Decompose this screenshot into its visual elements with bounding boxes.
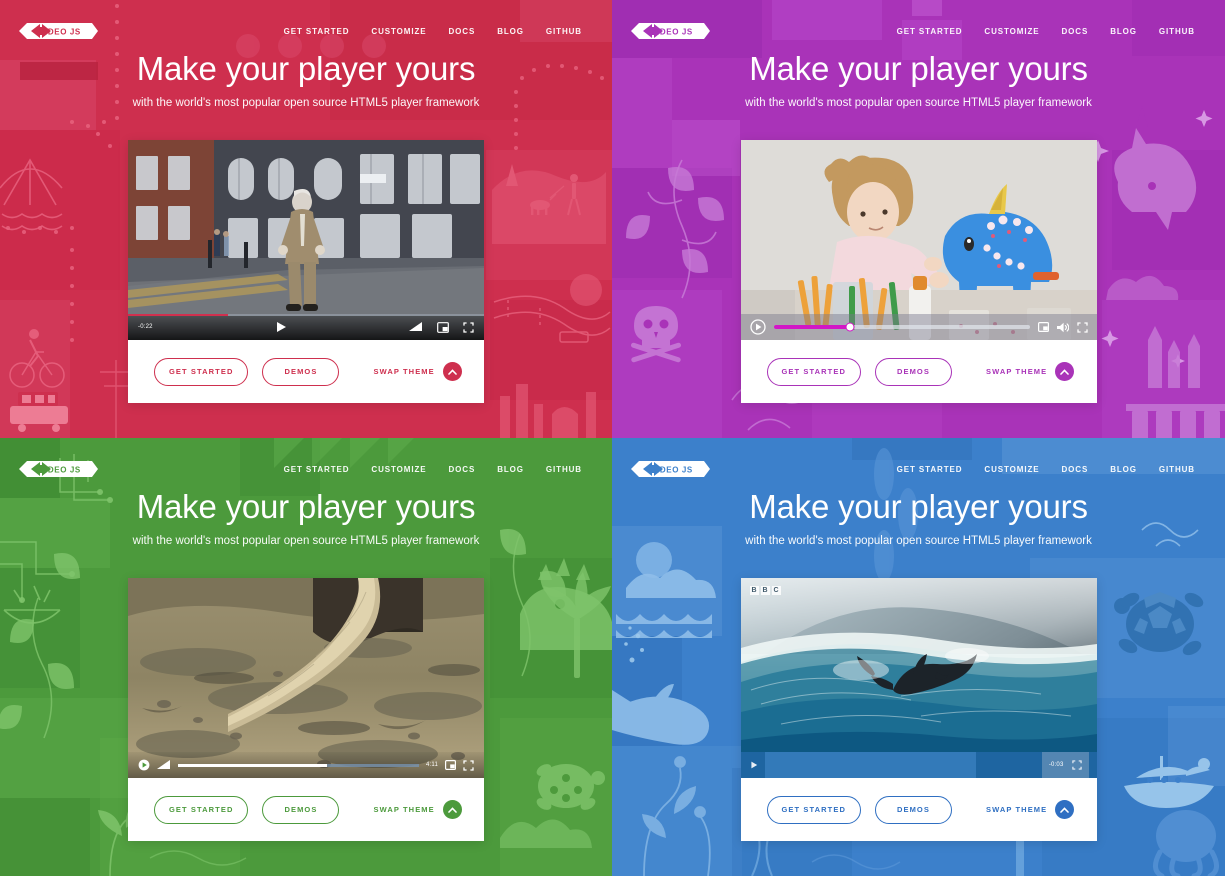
bbc-watermark: B B C xyxy=(750,586,781,595)
action-bar: GET STARTED DEMOS SWAP THEME xyxy=(741,778,1097,841)
progress-track[interactable] xyxy=(765,752,1036,778)
videojs-chevron-logo-icon: VIDEO JS xyxy=(628,20,712,42)
nav-item-blog[interactable]: BLOG xyxy=(497,465,524,474)
nav-item-customize[interactable]: CUSTOMIZE xyxy=(984,27,1039,36)
videojs-logo[interactable]: VIDEO JS xyxy=(628,458,712,480)
video-area[interactable]: -0:22 xyxy=(128,140,484,340)
time-display: -0:03 xyxy=(1049,762,1064,768)
video-area[interactable]: B B C -0:03 xyxy=(741,578,1097,778)
videojs-chevron-logo-icon: VIDEO JS xyxy=(628,458,712,480)
nav-item-docs[interactable]: DOCS xyxy=(1061,27,1088,36)
video-area[interactable] xyxy=(741,140,1097,340)
nav-item-docs[interactable]: DOCS xyxy=(448,465,475,474)
nav-item-github[interactable]: GITHUB xyxy=(1159,465,1195,474)
player-controls-right: -0:03 xyxy=(1042,752,1089,778)
main-nav: GET STARTED CUSTOMIZE DOCS BLOG GITHUB xyxy=(284,465,596,474)
progress-fill xyxy=(774,325,851,329)
player-card: B B C -0:03 xyxy=(741,578,1097,841)
fullscreen-icon[interactable] xyxy=(463,760,474,771)
play-circle-icon[interactable] xyxy=(750,319,766,335)
volume-icon[interactable] xyxy=(409,322,423,332)
progress-track[interactable] xyxy=(128,314,484,316)
volume-icon[interactable] xyxy=(1057,322,1069,333)
swap-theme-label: SWAP THEME xyxy=(373,367,434,376)
nav-item-docs[interactable]: DOCS xyxy=(1061,465,1088,474)
chevron-up-icon xyxy=(448,807,457,813)
site-header: VIDEO JS GET STARTED CUSTOMIZE DOCS BLOG… xyxy=(0,0,612,62)
nav-item-get-started[interactable]: GET STARTED xyxy=(897,465,963,474)
progress-fill xyxy=(765,752,977,778)
demos-button[interactable]: DEMOS xyxy=(262,358,339,386)
swap-theme-control[interactable]: SWAP THEME xyxy=(373,800,461,819)
nav-item-github[interactable]: GITHUB xyxy=(1159,27,1195,36)
nav-item-customize[interactable]: CUSTOMIZE xyxy=(371,27,426,36)
svg-text:VIDEO JS: VIDEO JS xyxy=(39,466,81,475)
swap-theme-control[interactable]: SWAP THEME xyxy=(373,362,461,381)
nav-item-blog[interactable]: BLOG xyxy=(1110,465,1137,474)
video-poster xyxy=(128,140,484,340)
get-started-button[interactable]: GET STARTED xyxy=(767,358,861,386)
panel-theme-blue: VIDEO JS GET STARTED CUSTOMIZE DOCS BLOG… xyxy=(612,438,1225,876)
nav-item-customize[interactable]: CUSTOMIZE xyxy=(984,465,1039,474)
nav-item-get-started[interactable]: GET STARTED xyxy=(284,465,350,474)
swap-theme-button[interactable] xyxy=(1055,362,1074,381)
player-card: 4:11 GET STARTED DEMOS SWAP THEME xyxy=(128,578,484,841)
get-started-button[interactable]: GET STARTED xyxy=(767,796,861,824)
nav-item-get-started[interactable]: GET STARTED xyxy=(897,27,963,36)
play-circle-icon[interactable] xyxy=(138,759,150,771)
nav-item-docs[interactable]: DOCS xyxy=(448,27,475,36)
chevron-up-icon xyxy=(448,369,457,375)
picture-in-picture-icon[interactable] xyxy=(445,760,456,770)
action-bar: GET STARTED DEMOS SWAP THEME xyxy=(128,340,484,403)
progress-handle[interactable] xyxy=(846,323,855,332)
fullscreen-icon[interactable] xyxy=(1077,322,1088,333)
player-card: GET STARTED DEMOS SWAP THEME xyxy=(741,140,1097,403)
site-header: VIDEO JS GET STARTED CUSTOMIZE DOCS BLOG… xyxy=(612,438,1225,500)
bbc-letter-1: B xyxy=(750,586,759,595)
video-poster xyxy=(128,578,484,778)
videojs-chevron-logo-icon: VIDEO JS xyxy=(16,458,100,480)
swap-theme-label: SWAP THEME xyxy=(986,805,1047,814)
chevron-up-icon xyxy=(1060,369,1069,375)
theme-grid: VIDEO JS GET STARTED CUSTOMIZE DOCS BLOG… xyxy=(0,0,1225,876)
player-controls[interactable]: 4:11 xyxy=(128,752,484,778)
main-nav: GET STARTED CUSTOMIZE DOCS BLOG GITHUB xyxy=(897,27,1209,36)
volume-icon[interactable] xyxy=(157,760,171,770)
videojs-chevron-logo-icon: VIDEO JS xyxy=(16,20,100,42)
player-controls[interactable]: -0:22 xyxy=(128,314,484,340)
time-display: -0:22 xyxy=(138,324,153,330)
svg-text:VIDEO JS: VIDEO JS xyxy=(651,28,693,37)
get-started-button[interactable]: GET STARTED xyxy=(154,796,248,824)
demos-button[interactable]: DEMOS xyxy=(875,358,952,386)
nav-item-blog[interactable]: BLOG xyxy=(1110,27,1137,36)
swap-theme-button[interactable] xyxy=(1055,800,1074,819)
chevron-up-icon xyxy=(1060,807,1069,813)
main-nav: GET STARTED CUSTOMIZE DOCS BLOG GITHUB xyxy=(284,27,596,36)
fullscreen-icon[interactable] xyxy=(463,322,474,333)
swap-theme-label: SWAP THEME xyxy=(373,805,434,814)
videojs-logo[interactable]: VIDEO JS xyxy=(16,458,100,480)
nav-item-github[interactable]: GITHUB xyxy=(546,465,582,474)
demos-button[interactable]: DEMOS xyxy=(875,796,952,824)
play-icon[interactable] xyxy=(275,321,287,333)
nav-item-get-started[interactable]: GET STARTED xyxy=(284,27,350,36)
progress-track[interactable] xyxy=(774,325,1030,329)
play-icon[interactable] xyxy=(749,760,759,770)
swap-theme-button[interactable] xyxy=(443,362,462,381)
time-display: 4:11 xyxy=(426,762,438,768)
progress-fill xyxy=(128,314,228,316)
video-poster xyxy=(741,140,1097,340)
player-card: -0:22 xyxy=(128,140,484,403)
action-bar: GET STARTED DEMOS SWAP THEME xyxy=(741,340,1097,403)
picture-in-picture-icon[interactable] xyxy=(1038,322,1049,332)
get-started-button[interactable]: GET STARTED xyxy=(154,358,248,386)
bbc-letter-3: C xyxy=(772,586,781,595)
player-controls[interactable] xyxy=(741,314,1097,340)
video-area[interactable]: 4:11 xyxy=(128,578,484,778)
svg-text:VIDEO JS: VIDEO JS xyxy=(651,466,693,475)
page-subtitle: with the world's most popular open sourc… xyxy=(0,97,612,109)
progress-track[interactable] xyxy=(178,764,419,767)
panel-theme-green: VIDEO JS GET STARTED CUSTOMIZE DOCS BLOG… xyxy=(0,438,612,876)
nav-item-customize[interactable]: CUSTOMIZE xyxy=(371,465,426,474)
site-header: VIDEO JS GET STARTED CUSTOMIZE DOCS BLOG… xyxy=(612,0,1225,62)
swap-theme-button[interactable] xyxy=(443,800,462,819)
picture-in-picture-icon[interactable] xyxy=(437,322,449,333)
demos-button[interactable]: DEMOS xyxy=(262,796,339,824)
nav-item-github[interactable]: GITHUB xyxy=(546,27,582,36)
page-subtitle: with the world's most popular open sourc… xyxy=(612,97,1225,109)
progress-fill xyxy=(178,764,327,767)
fullscreen-icon[interactable] xyxy=(1072,760,1082,770)
main-nav: GET STARTED CUSTOMIZE DOCS BLOG GITHUB xyxy=(897,465,1209,474)
panel-theme-red: VIDEO JS GET STARTED CUSTOMIZE DOCS BLOG… xyxy=(0,0,612,438)
videojs-logo[interactable]: VIDEO JS xyxy=(628,20,712,42)
panel-theme-purple: VIDEO JS GET STARTED CUSTOMIZE DOCS BLOG… xyxy=(612,0,1225,438)
bbc-letter-2: B xyxy=(761,586,770,595)
svg-text:VIDEO JS: VIDEO JS xyxy=(39,28,81,37)
page-subtitle: with the world's most popular open sourc… xyxy=(0,535,612,547)
nav-item-blog[interactable]: BLOG xyxy=(497,27,524,36)
swap-theme-control[interactable]: SWAP THEME xyxy=(986,362,1074,381)
videojs-logo[interactable]: VIDEO JS xyxy=(16,20,100,42)
video-poster xyxy=(741,578,1097,778)
action-bar: GET STARTED DEMOS SWAP THEME xyxy=(128,778,484,841)
swap-theme-label: SWAP THEME xyxy=(986,367,1047,376)
site-header: VIDEO JS GET STARTED CUSTOMIZE DOCS BLOG… xyxy=(0,438,612,500)
page-subtitle: with the world's most popular open sourc… xyxy=(612,535,1225,547)
swap-theme-control[interactable]: SWAP THEME xyxy=(986,800,1074,819)
player-controls[interactable]: -0:03 xyxy=(741,752,1097,778)
